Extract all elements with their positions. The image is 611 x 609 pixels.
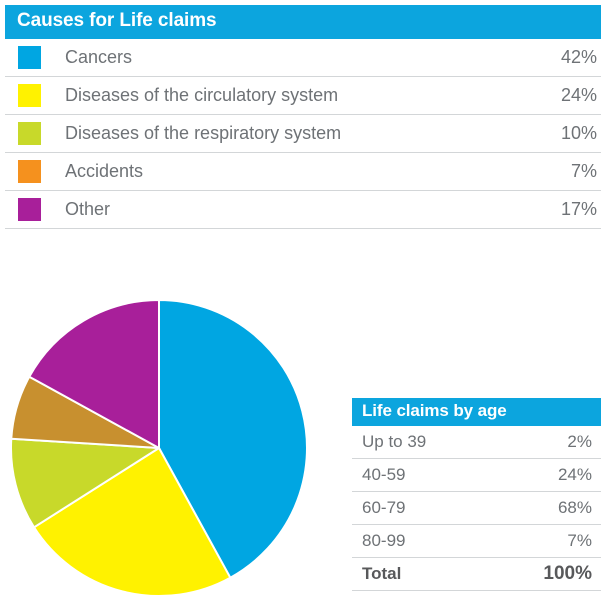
- legend-label: Diseases of the circulatory system: [65, 85, 561, 106]
- legend-row: Other17%: [5, 191, 601, 229]
- age-total-label: Total: [362, 564, 543, 584]
- age-range-label: Up to 39: [362, 432, 567, 452]
- legend-row: Diseases of the respiratory system10%: [5, 115, 601, 153]
- age-range-label: 40-59: [362, 465, 558, 485]
- legend-swatch-cancers: [18, 46, 41, 69]
- causes-panel-title: Causes for Life claims: [5, 5, 601, 39]
- legend-swatch-respiratory: [18, 122, 41, 145]
- legend-label: Cancers: [65, 47, 561, 68]
- age-table-row: Up to 392%: [352, 426, 601, 459]
- age-table-body: Up to 392%40-5924%60-7968%80-997%Total10…: [352, 426, 601, 591]
- legend-label: Accidents: [65, 161, 571, 182]
- legend-swatch-accidents: [18, 160, 41, 183]
- legend-value: 42%: [561, 47, 601, 68]
- age-table-row: 60-7968%: [352, 492, 601, 525]
- legend-value: 7%: [571, 161, 601, 182]
- age-range-label: 60-79: [362, 498, 558, 518]
- causes-legend-list: Cancers42%Diseases of the circulatory sy…: [5, 39, 601, 229]
- legend-value: 17%: [561, 199, 601, 220]
- age-total-value: 100%: [543, 563, 601, 585]
- age-percent-value: 7%: [567, 531, 601, 551]
- age-table-row: 80-997%: [352, 525, 601, 558]
- age-table-total-row: Total100%: [352, 558, 601, 591]
- legend-label: Diseases of the respiratory system: [65, 123, 561, 144]
- legend-row: Accidents7%: [5, 153, 601, 191]
- age-table-title: Life claims by age: [352, 398, 601, 426]
- legend-label: Other: [65, 199, 561, 220]
- pie-chart-svg: [10, 299, 308, 597]
- age-percent-value: 68%: [558, 498, 601, 518]
- life-claims-by-age-table: Life claims by age Up to 392%40-5924%60-…: [352, 398, 601, 591]
- age-range-label: 80-99: [362, 531, 567, 551]
- legend-swatch-circulatory: [18, 84, 41, 107]
- legend-value: 10%: [561, 123, 601, 144]
- legend-value: 24%: [561, 85, 601, 106]
- legend-swatch-other: [18, 198, 41, 221]
- causes-pie-chart: [10, 299, 308, 597]
- age-percent-value: 2%: [567, 432, 601, 452]
- age-table-row: 40-5924%: [352, 459, 601, 492]
- legend-row: Cancers42%: [5, 39, 601, 77]
- legend-row: Diseases of the circulatory system24%: [5, 77, 601, 115]
- age-percent-value: 24%: [558, 465, 601, 485]
- causes-for-life-claims-panel: Causes for Life claims Cancers42%Disease…: [5, 5, 601, 229]
